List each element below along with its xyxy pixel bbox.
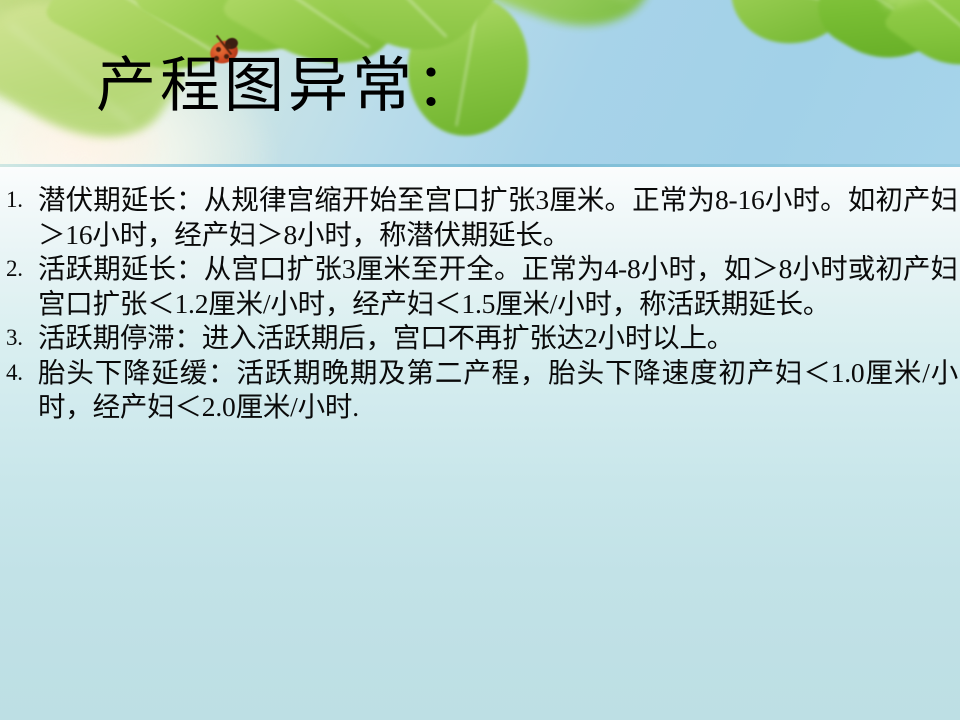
- list-item: 1. 潜伏期延长：从规律宫缩开始至宫口扩张3厘米。正常为8-16小时。如初产妇＞…: [6, 183, 958, 252]
- list-item-marker: 2.: [6, 252, 23, 287]
- bullet-list: 1. 潜伏期延长：从规律宫缩开始至宫口扩张3厘米。正常为8-16小时。如初产妇＞…: [6, 183, 958, 425]
- list-item: 3. 活跃期停滞：进入活跃期后，宫口不再扩张达2小时以上。: [6, 321, 958, 356]
- content-area: 1. 潜伏期延长：从规律宫缩开始至宫口扩张3厘米。正常为8-16小时。如初产妇＞…: [0, 167, 960, 720]
- leaf-vein: [918, 0, 960, 50]
- list-item-marker: 1.: [6, 183, 23, 218]
- list-item-marker: 3.: [6, 321, 23, 356]
- list-item-text: 活跃期延长：从宫口扩张3厘米至开全。正常为4-8小时，如＞8小时或初产妇宫口扩张…: [38, 252, 958, 321]
- slide: 产程图异常： 1. 潜伏期延长：从规律宫缩开始至宫口扩张3厘米。正常为8-16小…: [0, 0, 960, 720]
- page-title: 产程图异常：: [96, 56, 480, 116]
- leaf-vein: [357, 0, 447, 37]
- ladybug-spot: [216, 47, 221, 52]
- list-item-marker: 4.: [6, 356, 23, 391]
- ladybug-spot: [226, 44, 231, 49]
- list-item: 4. 胎头下降延缓：活跃期晚期及第二产程，胎头下降速度初产妇＜1.0厘米/小时，…: [6, 356, 958, 425]
- leaf-vein: [516, 0, 633, 1]
- list-item-text: 活跃期停滞：进入活跃期后，宫口不再扩张达2小时以上。: [38, 321, 958, 356]
- list-item: 2. 活跃期延长：从宫口扩张3厘米至开全。正常为4-8小时，如＞8小时或初产妇宫…: [6, 252, 958, 321]
- list-item-text: 潜伏期延长：从规律宫缩开始至宫口扩张3厘米。正常为8-16小时。如初产妇＞16小…: [38, 183, 958, 252]
- list-item-text: 胎头下降延缓：活跃期晚期及第二产程，胎头下降速度初产妇＜1.0厘米/小时，经产妇…: [38, 356, 958, 425]
